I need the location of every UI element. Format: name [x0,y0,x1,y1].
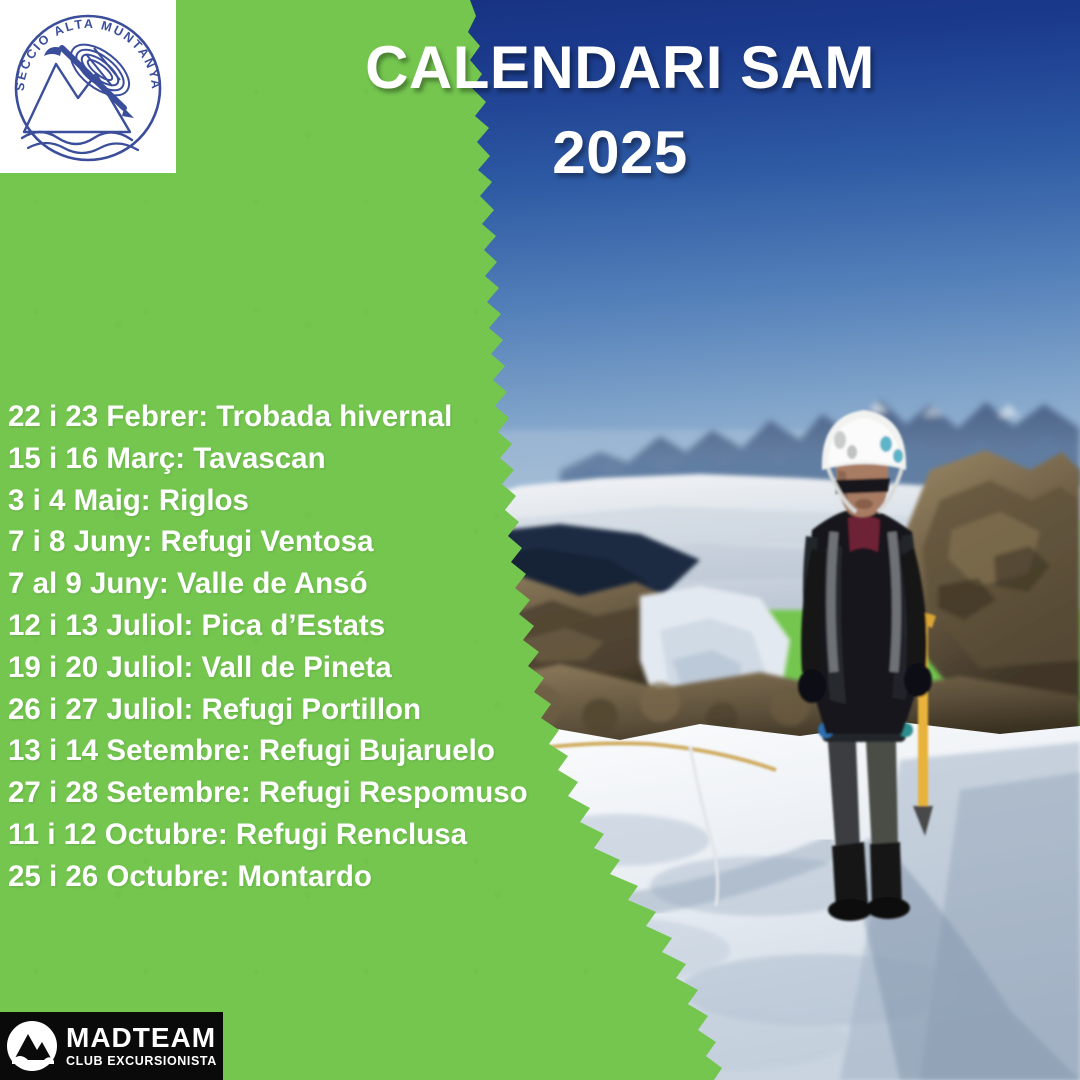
list-item: 19 i 20 Juliol: Vall de Pineta [8,647,528,689]
list-item: 11 i 12 Octubre: Refugi Renclusa [8,814,528,856]
list-item: 15 i 16 Març: Tavascan [8,438,528,480]
list-item: 26 i 27 Juliol: Refugi Portillon [8,689,528,731]
title-line-2: 2025 [310,121,930,184]
list-item: 27 i 28 Setembre: Refugi Respomuso [8,772,528,814]
list-item: 3 i 4 Maig: Riglos [8,480,528,522]
title-line-1: CALENDARI SAM [310,36,930,99]
sam-club-logo: SECCIÓ ALTA MUNTANYA [0,0,176,173]
list-item: 12 i 13 Juliol: Pica d’Estats [8,605,528,647]
madteam-subtitle: CLUB EXCURSIONISTA [66,1055,217,1068]
event-list: 22 i 23 Febrer: Trobada hivernal 15 i 16… [8,396,528,898]
list-item: 22 i 23 Febrer: Trobada hivernal [8,396,528,438]
madteam-name: MADTEAM [66,1024,217,1052]
page-title: CALENDARI SAM 2025 [310,36,930,184]
list-item: 7 al 9 Juny: Valle de Ansó [8,563,528,605]
madteam-logo: MADTEAM CLUB EXCURSIONISTA [0,1012,223,1080]
list-item: 25 i 26 Octubre: Montardo [8,856,528,898]
list-item: 13 i 14 Setembre: Refugi Bujaruelo [8,730,528,772]
list-item: 7 i 8 Juny: Refugi Ventosa [8,521,528,563]
madteam-wordmark: MADTEAM CLUB EXCURSIONISTA [66,1024,217,1068]
madteam-mountain-icon [6,1020,58,1072]
poster-canvas: CALENDARI SAM 2025 22 i 23 Febrer: Troba… [0,0,1080,1080]
